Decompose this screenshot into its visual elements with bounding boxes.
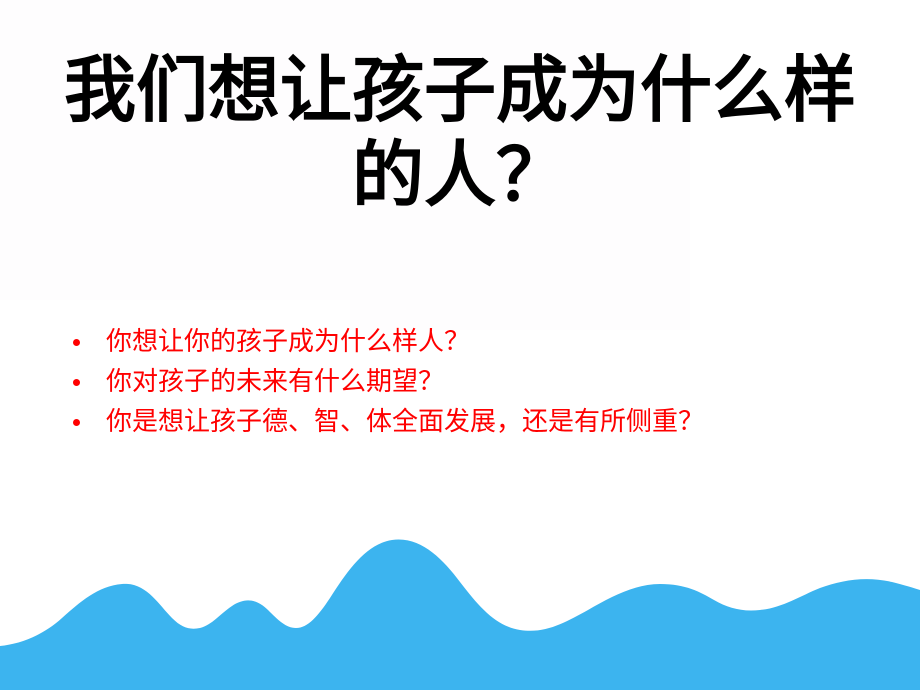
list-item: 你对孩子的未来有什么期望？ (64, 362, 884, 402)
slide-canvas: 我们想让孩子成为什么样 的人？ 你想让你的孩子成为什么样人？ 你对孩子的未来有什… (0, 0, 920, 690)
bottom-wave-decoration (0, 530, 920, 690)
bullet-list: 你想让你的孩子成为什么样人？ 你对孩子的未来有什么期望？ 你是想让孩子德、智、体… (64, 322, 884, 442)
slide-title-line-2: 的人？ (0, 133, 920, 218)
slide-title-line-1: 我们想让孩子成为什么样 (0, 48, 920, 133)
bullet-dot-icon (73, 419, 80, 426)
slide-title: 我们想让孩子成为什么样 的人？ (0, 48, 920, 218)
wave-icon (0, 530, 920, 690)
bullet-item-label: 你对孩子的未来有什么期望？ (106, 367, 444, 397)
list-item: 你是想让孩子德、智、体全面发展，还是有所侧重？ (64, 402, 884, 442)
bullet-dot-icon (73, 339, 80, 346)
bullet-item-label: 你是想让孩子德、智、体全面发展，还是有所侧重？ (106, 407, 704, 437)
bullet-item-label: 你想让你的孩子成为什么样人？ (106, 327, 470, 357)
list-item: 你想让你的孩子成为什么样人？ (64, 322, 884, 362)
bullet-dot-icon (73, 379, 80, 386)
